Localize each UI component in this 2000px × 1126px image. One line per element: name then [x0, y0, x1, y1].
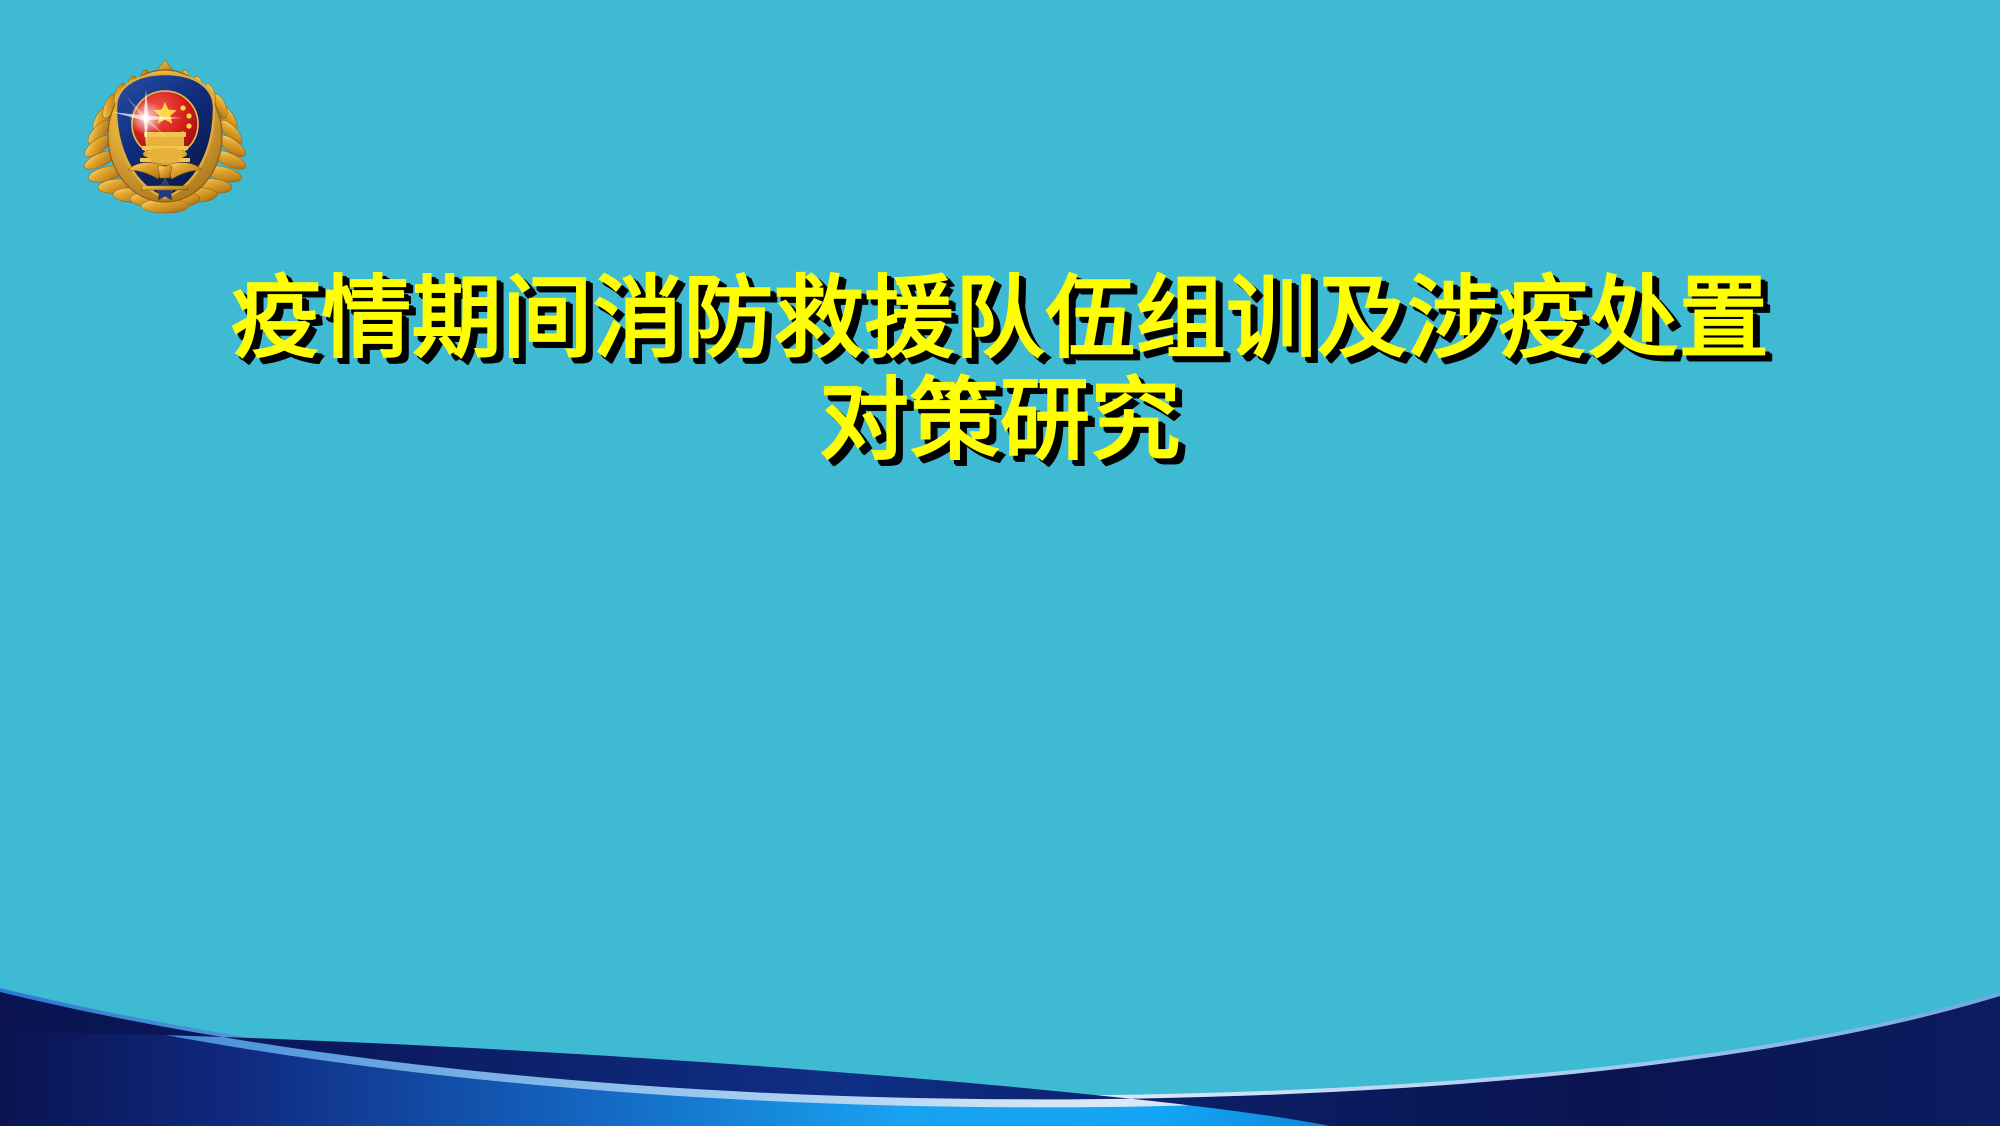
china-fire-rescue-emblem	[72, 46, 258, 214]
presentation-slide: 疫情期间消防救援队伍组训及涉疫处置 对策研究	[0, 0, 2000, 1126]
title-line-1: 疫情期间消防救援队伍组训及涉疫处置	[0, 274, 2000, 376]
bottom-wave-decoration	[0, 936, 2000, 1126]
slide-title: 疫情期间消防救援队伍组训及涉疫处置 对策研究	[0, 274, 2000, 478]
title-line-2: 对策研究	[0, 376, 2000, 478]
